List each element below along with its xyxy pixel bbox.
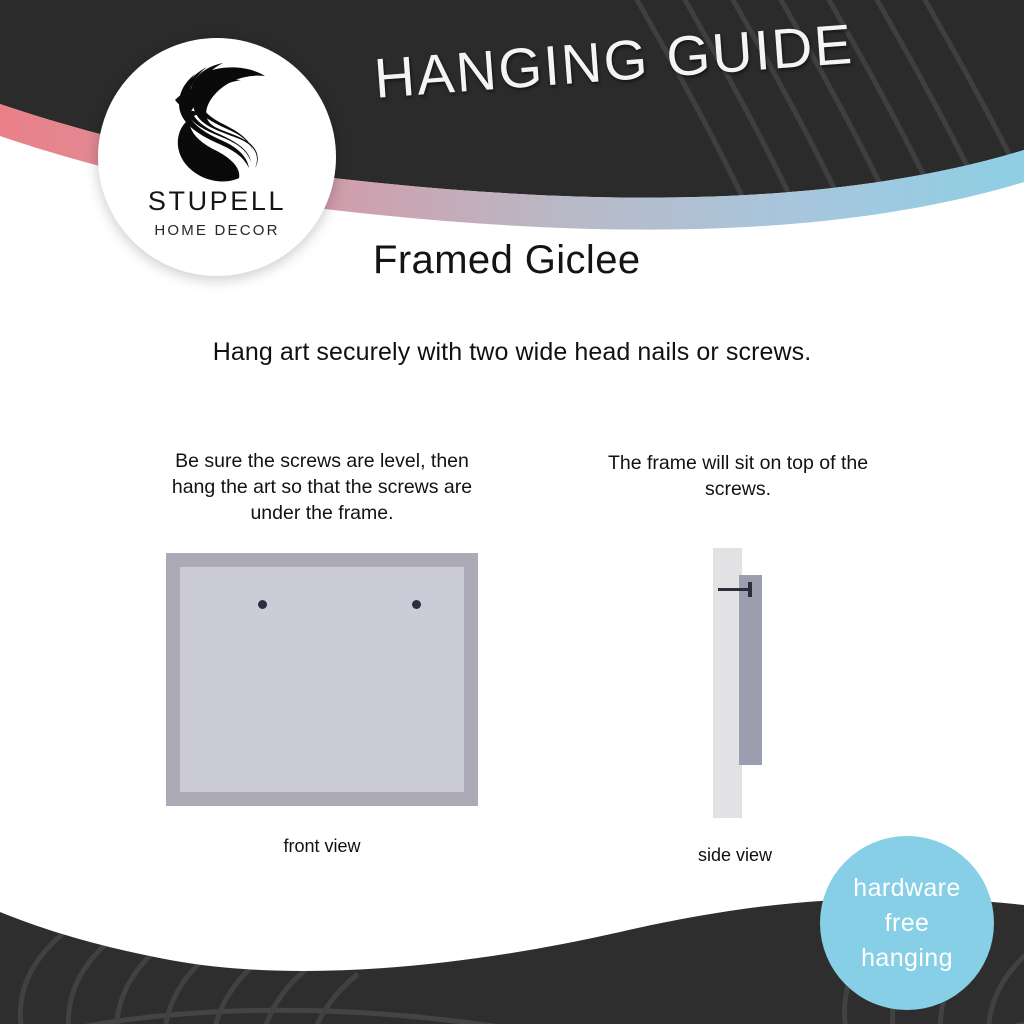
product-type-label: Framed Giclee	[373, 238, 641, 283]
front-view-frame-interior	[180, 567, 464, 792]
front-view-frame	[166, 553, 478, 806]
screw-head-icon	[748, 582, 752, 597]
stupell-swoosh-s-icon	[157, 60, 277, 184]
screw-dot-right-icon	[412, 600, 421, 609]
side-view-label: side view	[640, 845, 830, 866]
brand-wordmark: STUPELL	[148, 188, 286, 215]
badge-line-1: hardware	[853, 871, 960, 906]
badge-line-3: hanging	[861, 941, 953, 976]
front-view-caption: Be sure the screws are level, then hang …	[152, 448, 492, 526]
side-view-caption: The frame will sit on top of the screws.	[588, 450, 888, 502]
hardware-free-hanging-badge: hardware free hanging	[820, 836, 994, 1010]
screw-shaft-icon	[718, 588, 751, 591]
front-view-label: front view	[192, 836, 452, 857]
lead-instruction: Hang art securely with two wide head nai…	[0, 338, 1024, 367]
badge-line-2: free	[885, 906, 930, 941]
screw-dot-left-icon	[258, 600, 267, 609]
hanging-guide-page: STUPELL HOME DECOR HANGING GUIDE Framed …	[0, 0, 1024, 1024]
side-view-frame-profile	[739, 575, 762, 765]
brand-tagline: HOME DECOR	[154, 222, 279, 239]
brand-logo-badge: STUPELL HOME DECOR	[98, 38, 336, 276]
